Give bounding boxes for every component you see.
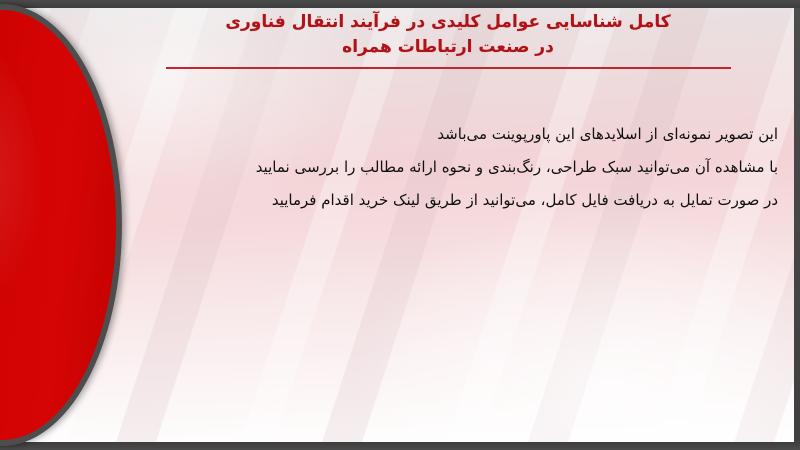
- slide-body-text: این تصویر نمونه‌ای از اسلایدهای این پاور…: [110, 118, 778, 217]
- slide-frame-top-edge: [0, 0, 800, 8]
- slide-title-line-2: در صنعت ارتباطات همراه: [120, 35, 776, 60]
- slide-title-line-1: کامل شناسایی عوامل کلیدی در فرآیند انتقا…: [120, 10, 776, 35]
- background-diagonal-streaks: [14, 8, 794, 442]
- body-text-line-2: با مشاهده آن می‌توانید سبک طراحی، رنگ‌بن…: [110, 151, 778, 184]
- title-divider-rule: [166, 67, 731, 69]
- background-highlight-bottom-right: [354, 202, 794, 442]
- presentation-slide: کامل شناسایی عوامل کلیدی در فرآیند انتقا…: [0, 0, 800, 450]
- body-text-line-3: در صورت تمایل به دریافت فایل کامل، می‌تو…: [110, 184, 778, 217]
- red-ellipse-highlight: [0, 40, 44, 420]
- body-text-line-1: این تصویر نمونه‌ای از اسلایدهای این پاور…: [110, 118, 778, 151]
- slide-title: کامل شناسایی عوامل کلیدی در فرآیند انتقا…: [120, 10, 776, 69]
- slide-content-panel: [14, 8, 794, 442]
- slide-frame-bottom-edge: [0, 442, 800, 450]
